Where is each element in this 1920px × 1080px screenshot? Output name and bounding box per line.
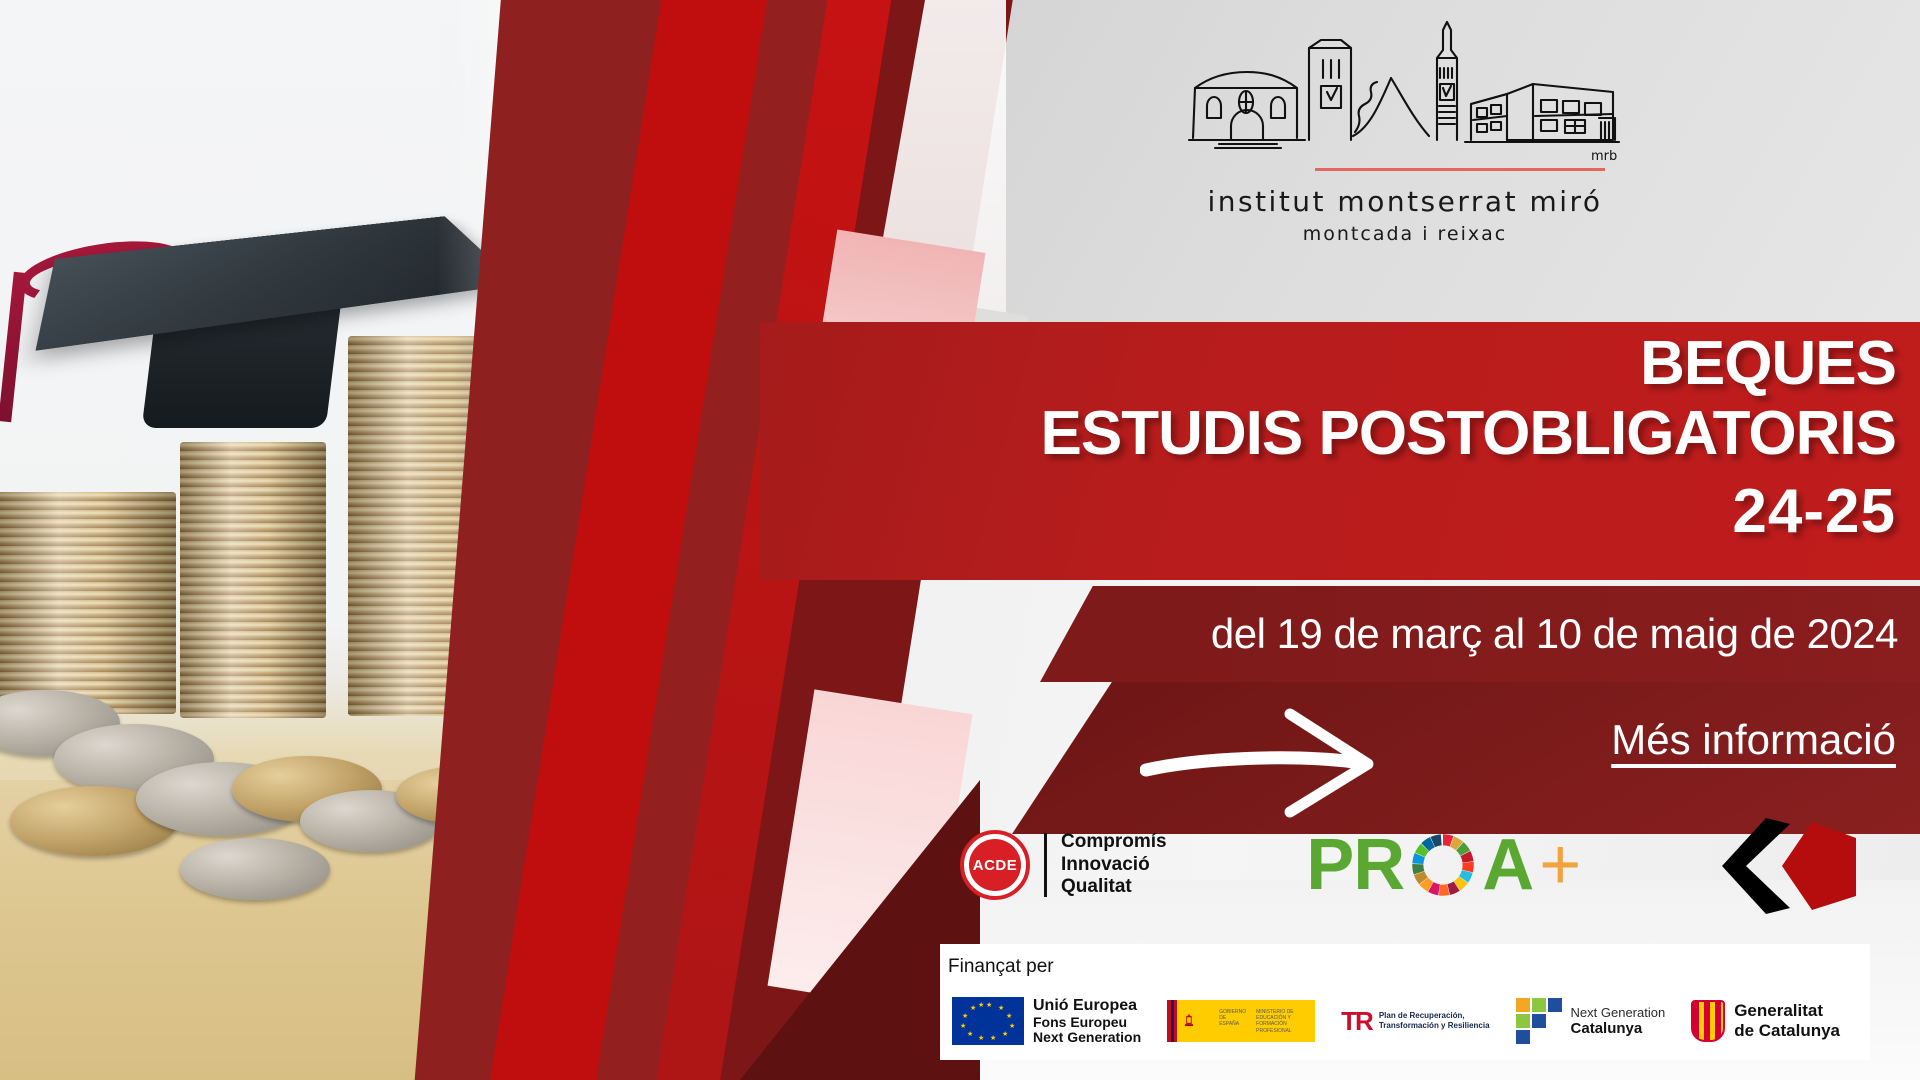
funding-logo-list: ★ ★ ★ ★ ★ ★ ★ ★ ★ ★ ★ ★ Unió Europea Fon… [952,997,1840,1046]
acde-tagline-line-1: Compromís [1061,831,1167,854]
acde-logo: ACDE Compromís Innovació Qualitat [960,830,1167,900]
eu-line-2: Fons Europeu [1033,1015,1141,1031]
acde-badge-label: ACDE [973,857,1018,874]
logo-divider-rule [1315,168,1605,171]
ngc-text: Next Generation Catalunya [1571,1005,1666,1039]
acde-tagline: Compromís Innovació Qualitat [1061,831,1167,899]
ngc-line-1: Next Generation [1571,1005,1666,1021]
headline-line-3: 24-25 [1732,476,1896,547]
plan-recuperacion-logo: TR Plan de Recuperación, Transformación … [1341,1006,1489,1037]
eu-funding-text: Unió Europea Fons Europeu Next Generatio… [1033,997,1141,1046]
acde-tagline-line-2: Innovació [1061,854,1167,877]
coin-stack-left [0,492,176,714]
acde-badge-icon: ACDE [969,839,1021,891]
prtr-line-2: Transformación y Resiliencia [1379,1021,1490,1031]
gencat-text: Generalitat de Catalunya [1734,1001,1840,1041]
logo-institution-name: institut montserrat miró [1185,185,1625,218]
logo-institution-location: montcada i reixac [1185,223,1625,245]
gencat-line-1: Generalitat [1734,1001,1840,1021]
more-info-link[interactable]: Més informació [1611,716,1896,764]
proa-plus-logo: PR [1306,824,1580,906]
loose-coin [180,838,330,900]
prtr-line-1: Plan de Recuperación, [1379,1011,1490,1021]
eu-funding-logo: ★ ★ ★ ★ ★ ★ ★ ★ ★ ★ ★ ★ Unió Europea Fon… [952,997,1141,1046]
eu-line-3: Next Generation [1033,1030,1141,1046]
eu-flag-icon: ★ ★ ★ ★ ★ ★ ★ ★ ★ ★ ★ ★ [952,997,1024,1045]
headline-line-1: BEQUES [1640,328,1896,399]
colored-squares-icon [1516,998,1562,1044]
gobierno-line-2: MINISTERIO DE EDUCACIÓN Y FORMACIÓN PROF… [1256,1009,1315,1034]
catalan-shield-icon [1691,1000,1725,1042]
logo-signature: mrb [1591,149,1617,164]
acde-tagline-line-3: Qualitat [1061,876,1167,899]
eu-line-1: Unió Europea [1033,997,1141,1015]
coin-stack-center [180,442,326,718]
spain-flag-bars-icon [1167,1000,1177,1042]
prtr-text: Plan de Recuperación, Transformación y R… [1379,1011,1490,1031]
prtr-mark: TR [1341,1006,1372,1037]
scholarship-poster: mrb institut montserrat miró montcada i … [0,0,1920,1080]
spain-coat-of-arms-icon [1183,1004,1195,1038]
funding-label: Finançat per [948,956,1054,978]
acde-divider [1044,833,1047,897]
proa-suffix: A [1482,824,1533,906]
gobierno-de-espana-logo: GOBIERNO DE ESPAÑA MINISTERIO DE EDUCACI… [1167,1000,1315,1042]
funding-footer-bar: ★ ★ ★ ★ ★ ★ ★ ★ ★ ★ ★ ★ Unió Europea Fon… [940,944,1870,1060]
gencat-line-2: de Catalunya [1734,1021,1840,1041]
proa-prefix: PR [1306,824,1404,906]
gobierno-line-1: GOBIERNO DE ESPAÑA [1219,1009,1246,1034]
partner-logo-row: ACDE Compromís Innovació Qualitat PR [900,800,1920,930]
chevron-pentagon-logo-icon [1720,810,1860,920]
proa-plus-sign: + [1539,824,1580,906]
generalitat-de-catalunya-logo: Generalitat de Catalunya [1691,1000,1840,1042]
sdg-color-wheel-icon [1406,828,1480,902]
school-skyline-sketch-icon: mrb [1185,14,1625,164]
next-generation-catalunya-logo: Next Generation Catalunya [1516,998,1666,1044]
headline-line-2: ESTUDIS POSTOBLIGATORIS [1041,398,1896,469]
acde-ring-icon: ACDE [960,830,1030,900]
application-period-text: del 19 de març al 10 de maig de 2024 [1040,586,1920,682]
gobierno-text: GOBIERNO DE ESPAÑA MINISTERIO DE EDUCACI… [1219,1009,1315,1034]
ngc-line-2: Catalunya [1571,1020,1643,1037]
school-logo: mrb institut montserrat miró montcada i … [1185,14,1625,224]
